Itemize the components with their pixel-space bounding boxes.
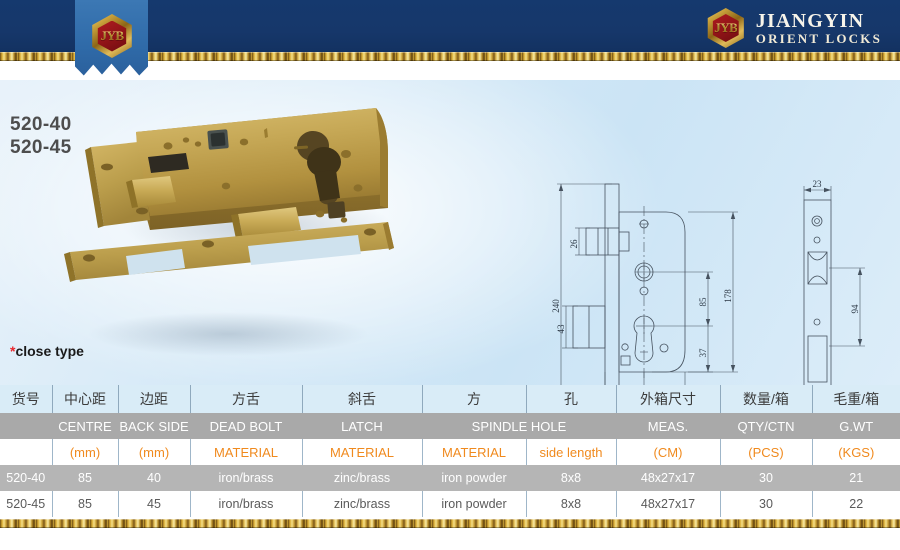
cell-deadbolt: iron/brass bbox=[190, 465, 302, 491]
brand-lockup: JYB JIANGYIN ORIENT LOCKS bbox=[705, 8, 882, 48]
cell-meas: 48x27x17 bbox=[616, 491, 720, 517]
dim-faceplate-height: 94 bbox=[850, 304, 860, 314]
col-cn-centre: 中心距 bbox=[52, 385, 118, 413]
col-unit-latch: MATERIAL bbox=[302, 439, 422, 465]
logo-ribbon: JYB bbox=[75, 0, 148, 79]
dim-cylinder-to-end: 37 bbox=[698, 348, 708, 358]
jyb-logo-icon: JYB bbox=[705, 8, 747, 48]
specification-table: 货号 中心距 边距 方舌 斜舌 方 孔 外箱尺寸 数量/箱 毛重/箱 CENTR… bbox=[0, 385, 900, 517]
cell-model: 520-40 bbox=[0, 465, 52, 491]
col-cn-model: 货号 bbox=[0, 385, 52, 413]
col-unit-backside: (mm) bbox=[118, 439, 190, 465]
col-unit-deadbolt: MATERIAL bbox=[190, 439, 302, 465]
col-en-meas: MEAS. bbox=[616, 413, 720, 439]
table-row: 520-45 85 45 iron/brass zinc/brass iron … bbox=[0, 491, 900, 517]
brand-names: JIANGYIN ORIENT LOCKS bbox=[756, 11, 882, 45]
header-row-units: (mm) (mm) MATERIAL MATERIAL MATERIAL sid… bbox=[0, 439, 900, 465]
col-unit-qty: (PCS) bbox=[720, 439, 812, 465]
cell-spindle-side: 8x8 bbox=[526, 491, 616, 517]
dim-latch-width: 26 bbox=[569, 239, 579, 249]
col-cn-gwt: 毛重/箱 bbox=[812, 385, 900, 413]
col-en-backside: BACK SIDE bbox=[118, 413, 190, 439]
dim-overall-length: 240 bbox=[551, 299, 561, 313]
cell-backside: 40 bbox=[118, 465, 190, 491]
col-en-spindle-hole: SPINDLE HOLE bbox=[422, 413, 616, 439]
faceplate-dimension-lines bbox=[804, 186, 865, 346]
col-unit-gwt: (KGS) bbox=[812, 439, 900, 465]
col-en-qty: QTY/CTN bbox=[720, 413, 812, 439]
lock-body bbox=[85, 108, 388, 239]
cell-centre: 85 bbox=[52, 465, 118, 491]
cell-model: 520-45 bbox=[0, 491, 52, 517]
cell-spindle-material: iron powder bbox=[422, 491, 526, 517]
footer-strip bbox=[0, 528, 900, 550]
col-unit-model bbox=[0, 439, 52, 465]
col-en-gwt: G.WT bbox=[812, 413, 900, 439]
col-en-model bbox=[0, 413, 52, 439]
col-cn-meas: 外箱尺寸 bbox=[616, 385, 720, 413]
cell-gwt: 21 bbox=[812, 465, 900, 491]
jyb-logo-text: JYB bbox=[714, 20, 737, 36]
col-en-deadbolt: DEAD BOLT bbox=[190, 413, 302, 439]
dim-deadbolt-width: 43 bbox=[556, 324, 566, 334]
col-cn-spindle-1: 方 bbox=[422, 385, 526, 413]
col-unit-meas: (CM) bbox=[616, 439, 720, 465]
ribbon-jyb-logo-text: JYB bbox=[100, 28, 123, 44]
product-display-panel: 520-40 520-45 *close type bbox=[0, 80, 900, 385]
col-unit-spindle-material: MATERIAL bbox=[422, 439, 526, 465]
cell-latch: zinc/brass bbox=[302, 465, 422, 491]
gold-ornament-band-bottom bbox=[0, 519, 900, 528]
col-cn-deadbolt: 方舌 bbox=[190, 385, 302, 413]
col-unit-spindle-side: side length bbox=[526, 439, 616, 465]
header-row-chinese: 货号 中心距 边距 方舌 斜舌 方 孔 外箱尺寸 数量/箱 毛重/箱 bbox=[0, 385, 900, 413]
cell-meas: 48x27x17 bbox=[616, 465, 720, 491]
product-photo bbox=[58, 102, 418, 372]
col-en-centre: CENTRE bbox=[52, 413, 118, 439]
cell-spindle-side: 8x8 bbox=[526, 465, 616, 491]
col-unit-centre: (mm) bbox=[52, 439, 118, 465]
cell-deadbolt: iron/brass bbox=[190, 491, 302, 517]
col-en-latch: LATCH bbox=[302, 413, 422, 439]
cell-spindle-material: iron powder bbox=[422, 465, 526, 491]
cell-latch: zinc/brass bbox=[302, 491, 422, 517]
dim-centre: 85 bbox=[698, 297, 708, 307]
col-cn-spindle-2: 孔 bbox=[526, 385, 616, 413]
cell-qty: 30 bbox=[720, 465, 812, 491]
col-cn-latch: 斜舌 bbox=[302, 385, 422, 413]
header-row-english: CENTRE BACK SIDE DEAD BOLT LATCH SPINDLE… bbox=[0, 413, 900, 439]
col-cn-backside: 边距 bbox=[118, 385, 190, 413]
ribbon-jyb-logo-icon: JYB bbox=[89, 14, 135, 58]
cell-gwt: 22 bbox=[812, 491, 900, 517]
cell-backside: 45 bbox=[118, 491, 190, 517]
table-row: 520-40 85 40 iron/brass zinc/brass iron … bbox=[0, 465, 900, 491]
brand-name-primary: JIANGYIN bbox=[756, 11, 882, 31]
dim-faceplate-width: 23 bbox=[813, 179, 823, 189]
brand-name-secondary: ORIENT LOCKS bbox=[756, 32, 882, 45]
cell-qty: 30 bbox=[720, 491, 812, 517]
dim-plate-length: 178 bbox=[723, 289, 733, 303]
cell-centre: 85 bbox=[52, 491, 118, 517]
catalog-page: JYB JIANGYIN ORIENT LOCKS JYB 520-40 520… bbox=[0, 0, 900, 550]
col-cn-qty: 数量/箱 bbox=[720, 385, 812, 413]
